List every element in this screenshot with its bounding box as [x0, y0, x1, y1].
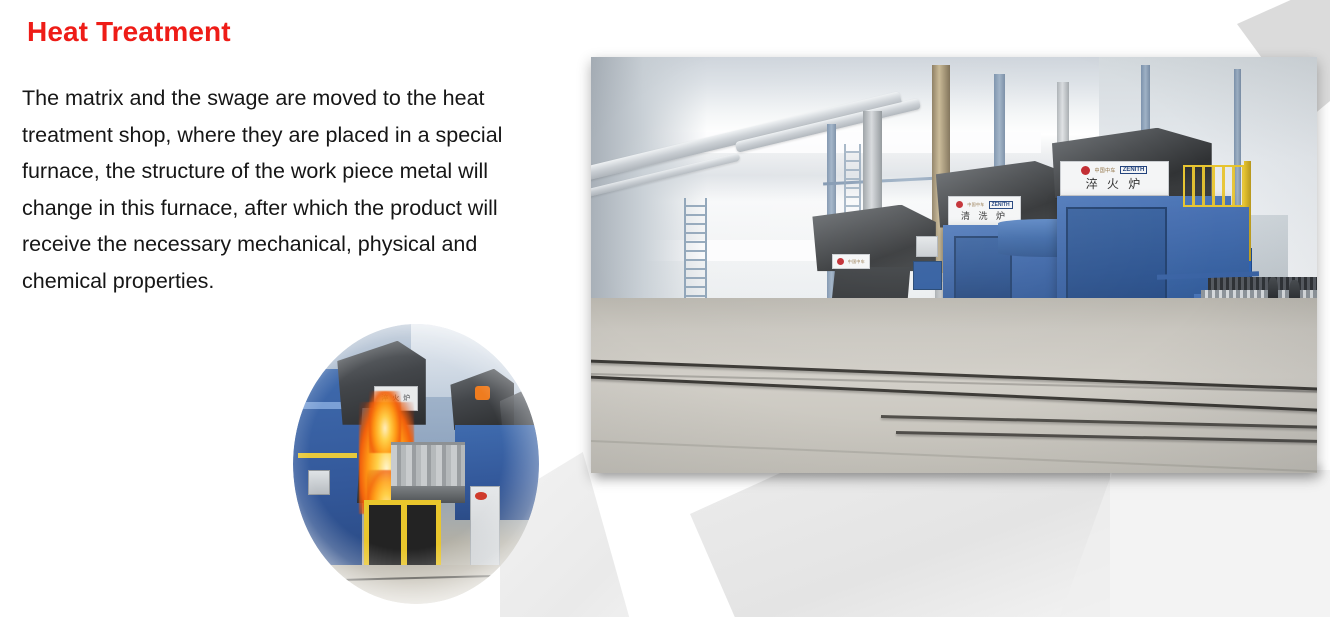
inset-photo-furnace-flame: 淬 火 炉 — [293, 324, 539, 604]
valve-panel-middle — [913, 261, 942, 290]
brand-badge-middle: ZENITH — [989, 201, 1013, 209]
furnace-sign-left-logos: 中国中车 — [837, 258, 865, 265]
inset-pipe-yellow — [298, 453, 357, 459]
furnace-sign-right: 中国中车 ZENITH 淬 火 炉 — [1060, 161, 1169, 196]
inset-control-box — [308, 470, 330, 495]
furnace-sign-left: 中国中车 — [832, 254, 870, 269]
brand-dot-icon — [956, 201, 963, 208]
furnace-sign-middle-characters: 清 洗 炉 — [961, 209, 1008, 222]
brand-sub-text: 中国中车 — [848, 259, 865, 265]
inset-cart-divider — [401, 500, 407, 573]
furnace-sign-right-logos: 中国中车 ZENITH — [1081, 166, 1147, 175]
inset-floor — [293, 565, 539, 604]
main-photo-heat-treatment-shop: 中国中车 中国中车 ZENITH 清 洗 炉 — [591, 57, 1317, 473]
slide-canvas: Heat Treatment The matrix and the swage … — [0, 0, 1330, 617]
main-photo-scene: 中国中车 中国中车 ZENITH 清 洗 炉 — [591, 57, 1317, 473]
brand-sub-text-right: 中国中车 — [1094, 167, 1115, 174]
decorative-wedge-far-right — [1055, 470, 1330, 617]
brand-dot-icon — [1081, 166, 1090, 175]
brand-dot-icon — [837, 258, 844, 265]
inset-photo-clip: 淬 火 炉 — [293, 324, 539, 604]
furnace-sign-right-characters: 淬 火 炉 — [1086, 175, 1144, 192]
body-paragraph: The matrix and the swage are moved to th… — [22, 80, 556, 299]
platform-railing-yellow — [1183, 165, 1248, 207]
page-title: Heat Treatment — [27, 16, 231, 48]
brand-sub-text-middle: 中国中车 — [967, 202, 984, 208]
furnace-sign-middle-logos: 中国中车 ZENITH — [956, 201, 1012, 209]
inset-orange-marker — [475, 386, 490, 400]
brand-badge-right: ZENITH — [1120, 166, 1148, 174]
control-panel-middle — [916, 236, 938, 257]
